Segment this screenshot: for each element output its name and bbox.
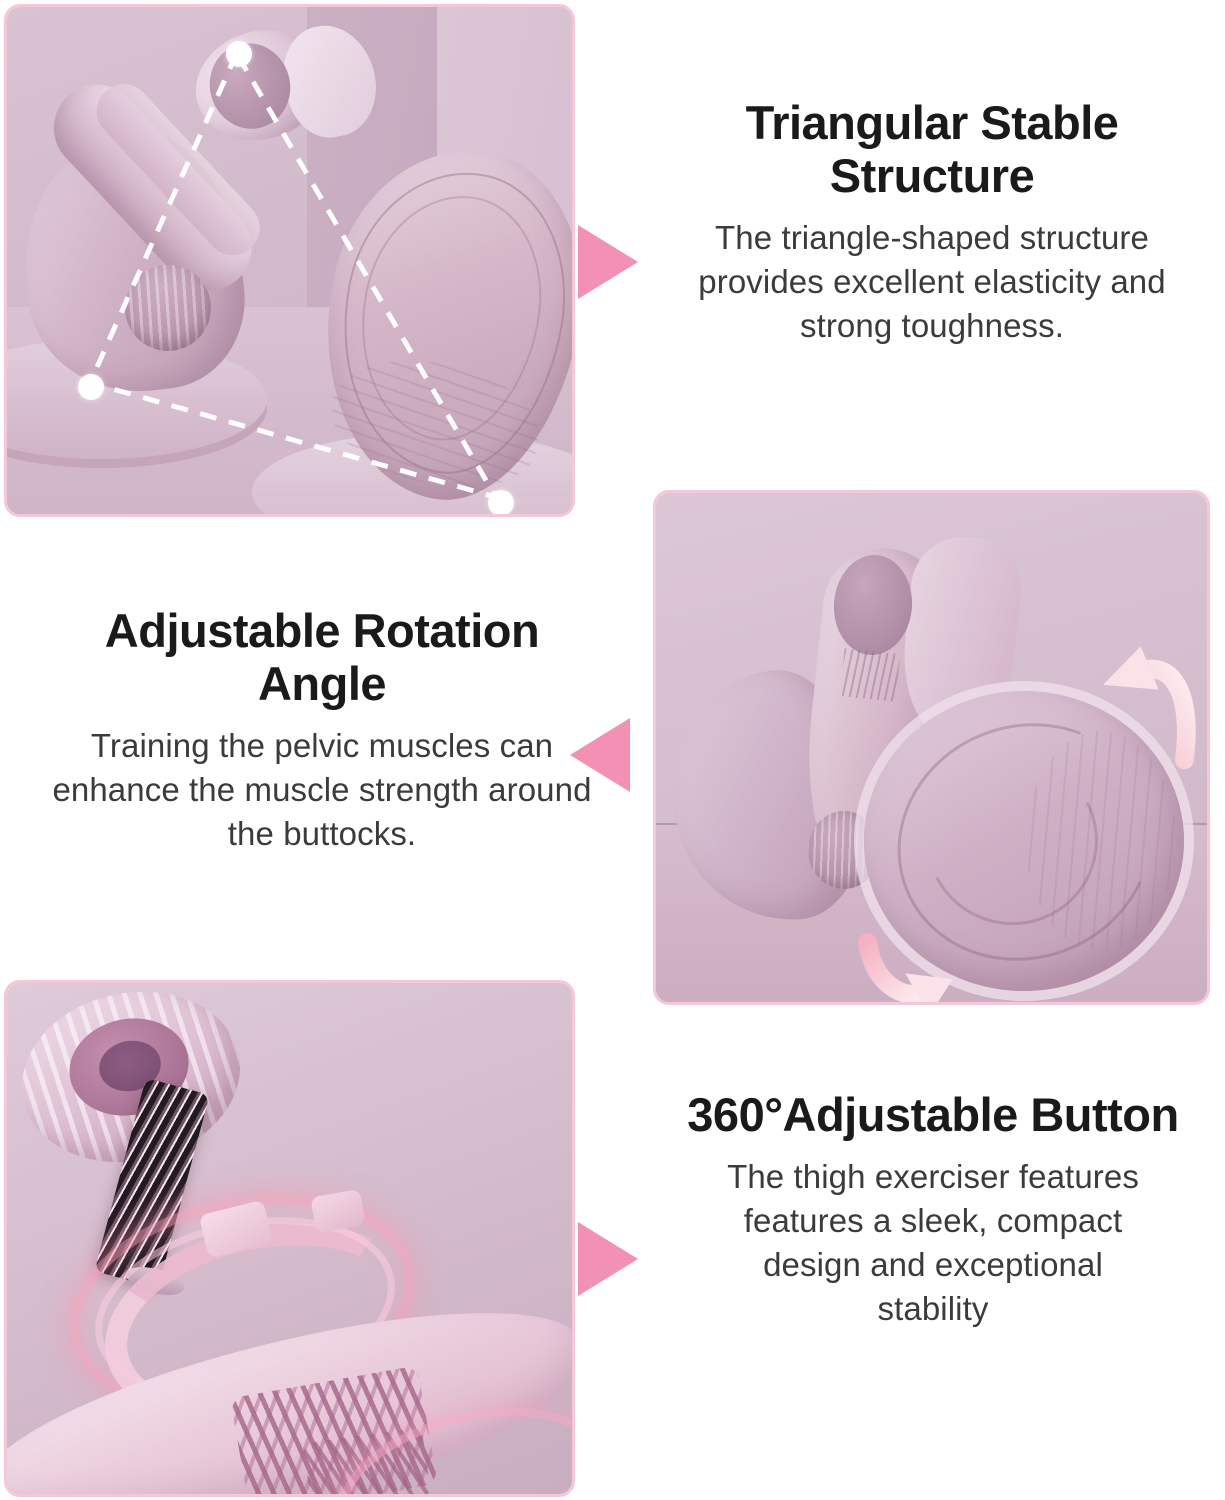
pointer-arrow-feature-1 <box>578 225 638 299</box>
feature-heading: Adjustable Rotation Angle <box>36 604 608 710</box>
product-photo-triangular-structure <box>7 7 572 514</box>
product-photo-rotation-angle <box>656 493 1207 1002</box>
feature-heading: Triangular Stable Structure <box>672 96 1192 202</box>
feature-body: The triangle-shaped structure provides e… <box>672 216 1192 348</box>
feature-image-triangular-stable-structure <box>4 4 575 517</box>
product-photo-adjustable-button <box>7 983 572 1494</box>
feature-body: The thigh exerciser features features a … <box>678 1155 1188 1331</box>
triangle-vertex-left <box>78 374 104 400</box>
feature-text-adjustable-rotation-angle: Adjustable Rotation Angle Training the p… <box>36 604 608 856</box>
feature-image-360-adjustable-button <box>4 980 575 1497</box>
feature-text-triangular-stable-structure: Triangular Stable Structure The triangle… <box>672 96 1192 348</box>
infographic-canvas: Triangular Stable Structure The triangle… <box>0 0 1225 1500</box>
triangle-vertex-top <box>226 41 252 67</box>
feature-body: Training the pelvic muscles can enhance … <box>36 724 608 856</box>
feature-text-360-adjustable-button: 360°Adjustable Button The thigh exercise… <box>678 1088 1188 1331</box>
rotation-arrows-overlay <box>656 493 1207 1002</box>
feature-heading: 360°Adjustable Button <box>678 1088 1188 1141</box>
feature-image-adjustable-rotation-angle <box>653 490 1210 1005</box>
triangle-vertex-right <box>488 490 514 516</box>
pointer-arrow-feature-2 <box>570 718 630 792</box>
pointer-arrow-feature-3 <box>578 1222 638 1296</box>
dashed-triangle-overlay <box>7 7 572 514</box>
